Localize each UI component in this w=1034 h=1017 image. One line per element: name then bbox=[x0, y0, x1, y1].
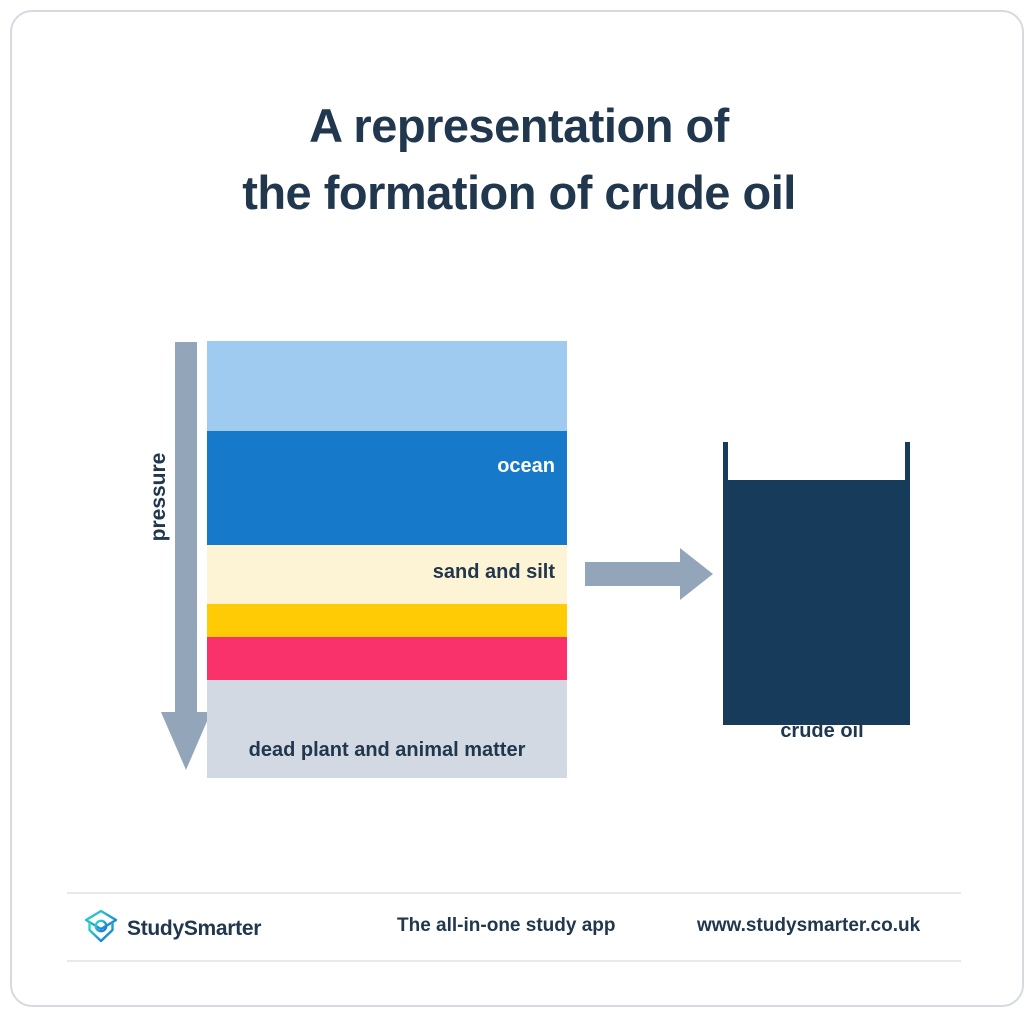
layer-label-ocean: ocean bbox=[497, 455, 555, 478]
footer-divider-bottom bbox=[67, 960, 961, 962]
pressure-label: pressure bbox=[147, 437, 177, 557]
layer-label-sand-and-silt: sand and silt bbox=[433, 561, 555, 584]
studysmarter-cube-logo-icon bbox=[82, 907, 120, 950]
diagram-card: A representation of the formation of cru… bbox=[10, 10, 1024, 1007]
sediment-layer-stack: ocean sand and silt dead plant and anima… bbox=[207, 341, 567, 778]
footer: StudySmarter The all-in-one study app ww… bbox=[67, 894, 961, 960]
beaker-label: crude oil bbox=[682, 720, 962, 743]
brand-logo[interactable]: StudySmarter bbox=[82, 907, 261, 950]
crude-oil-formation-diagram: pressure ocean sand and silt dead plant … bbox=[12, 12, 1026, 1009]
layer-label-dead-plant-and-animal-matter: dead plant and animal matter bbox=[207, 739, 567, 762]
layer-yellow-sediment bbox=[207, 604, 567, 637]
arrow-down-icon bbox=[158, 342, 214, 777]
brand-name: StudySmarter bbox=[127, 917, 261, 941]
arrow-right-icon bbox=[585, 548, 715, 600]
layer-ocean: ocean bbox=[207, 431, 567, 545]
footer-url[interactable]: www.studysmarter.co.uk bbox=[697, 915, 920, 937]
crude-oil-beaker bbox=[707, 432, 937, 732]
layer-pink-sediment bbox=[207, 637, 567, 680]
layer-sky bbox=[207, 341, 567, 431]
layer-dead-plant-and-animal-matter: dead plant and animal matter bbox=[207, 680, 567, 778]
layer-sand-and-silt: sand and silt bbox=[207, 545, 567, 604]
footer-tagline: The all-in-one study app bbox=[397, 915, 616, 937]
